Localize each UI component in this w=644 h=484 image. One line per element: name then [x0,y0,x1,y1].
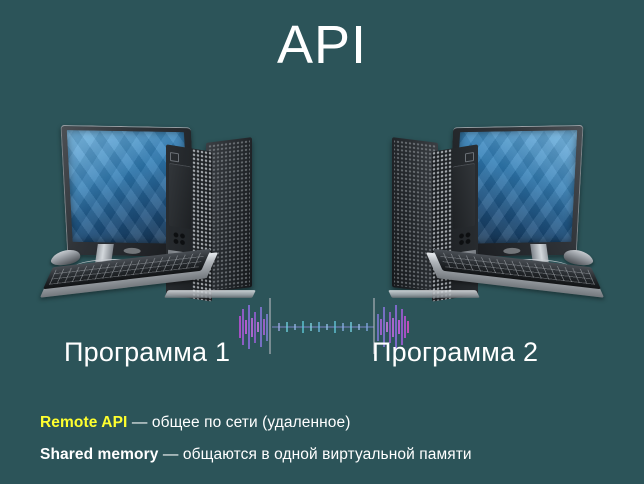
tower-side-mesh [208,139,250,290]
tower-drive-bay [453,163,475,229]
left-computer-illustration [42,118,312,308]
diagram-scene [0,118,644,308]
bullet-dash: — [132,414,148,431]
bullet-description: общее по сети (удаленное) [152,414,351,431]
tower-usb-ports [173,231,186,246]
bullet-remote-api: Remote API — общее по сети (удаленное) [40,414,351,432]
bullet-dash: — [163,446,179,463]
tower-usb-ports [458,231,471,246]
tower-side-panel [206,137,252,293]
power-button-icon [170,152,179,162]
left-program-label: Программа 1 [64,337,230,368]
tower-drive-bay [169,163,191,229]
right-program-label: Программа 2 [372,337,538,368]
power-button-icon [465,152,474,162]
right-computer-illustration [332,118,602,308]
bullet-description: общаются в одной виртуальной памяти [183,446,472,463]
page-title: API [0,14,644,76]
bullet-term: Remote API [40,414,127,431]
slide-canvas: API [0,0,644,484]
keyboard-icon [50,250,210,290]
bullet-term: Shared memory [40,446,158,463]
bullet-shared-memory: Shared memory — общаются в одной виртуал… [40,446,472,464]
tower-side-mesh [394,139,436,290]
keyboard-icon [434,250,594,290]
